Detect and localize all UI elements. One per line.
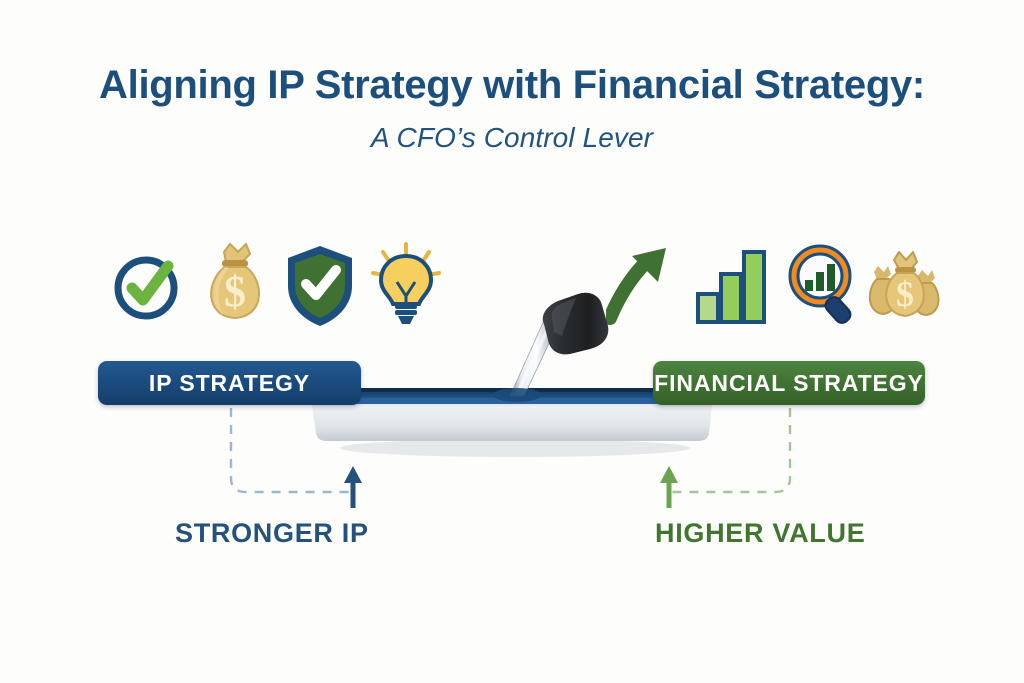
up-arrow-green: [660, 466, 678, 508]
magnifier-chart-icon: [778, 236, 858, 332]
page-subtitle: A CFO’s Control Lever: [0, 122, 1024, 154]
lever-base-front: [312, 406, 712, 441]
page-title: Aligning IP Strategy with Financial Stra…: [0, 62, 1024, 108]
money-bag-icon: $: [194, 238, 274, 334]
svg-text:$: $: [896, 274, 914, 314]
up-arrow-navy: [344, 466, 362, 508]
svg-text:$: $: [224, 267, 246, 316]
money-bags-icon: $: [864, 236, 944, 332]
check-circle-icon: [108, 238, 188, 334]
title-block: Aligning IP Strategy with Financial Stra…: [0, 62, 1024, 154]
lever-knob: [543, 293, 609, 355]
infographic-canvas: Aligning IP Strategy with Financial Stra…: [0, 0, 1024, 683]
badge-ip-strategy[interactable]: IP STRATEGY: [98, 361, 361, 405]
badge-financial-strategy[interactable]: FINANCIAL STRATEGY: [653, 361, 925, 405]
outcome-label-higher-value: HIGHER VALUE: [655, 518, 865, 549]
outcome-label-stronger-ip: STRONGER IP: [175, 518, 369, 549]
